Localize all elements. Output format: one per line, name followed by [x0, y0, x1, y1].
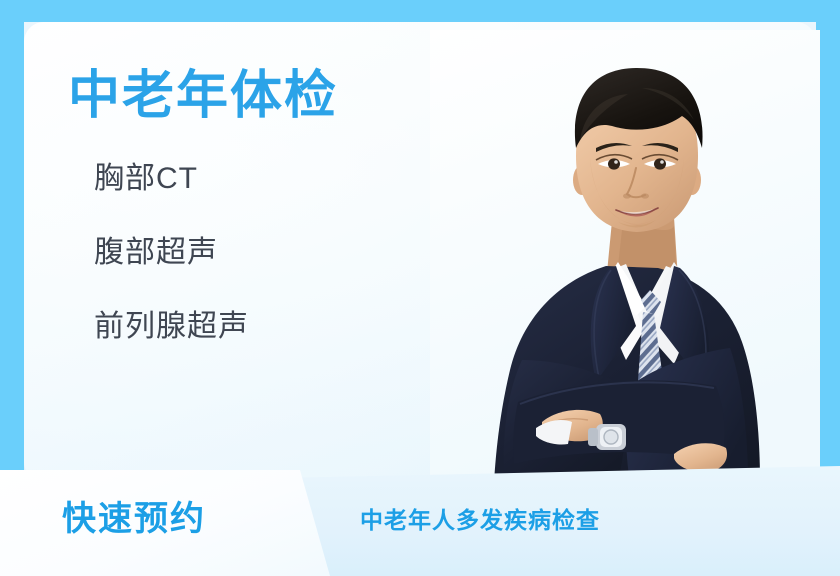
tagline: 中老年人多发疾病检查 — [360, 509, 600, 532]
feature-item-2: 腹部超声 — [94, 238, 338, 268]
bottom-bar: 快速预约 中老年人多发疾病检查 — [0, 466, 840, 576]
quick-booking-button[interactable]: 快速预约 — [0, 470, 330, 576]
frame-strip-left — [0, 0, 24, 496]
feature-item-3: 前列腺超声 — [94, 312, 338, 342]
health-checkup-poster: 中老年体检 胸部CT 腹部超声 前列腺超声 快速预约 中老年人多发疾病检查 — [0, 0, 840, 576]
poster-text-block: 中老年体检 胸部CT 腹部超声 前列腺超声 — [68, 70, 338, 342]
feature-item-1: 胸部CT — [94, 164, 338, 194]
businessman-portrait-photo — [430, 30, 820, 482]
frame-strip-top — [0, 0, 840, 22]
quick-booking-label: 快速预约 — [62, 502, 206, 536]
page-title: 中老年体检 — [68, 70, 338, 122]
